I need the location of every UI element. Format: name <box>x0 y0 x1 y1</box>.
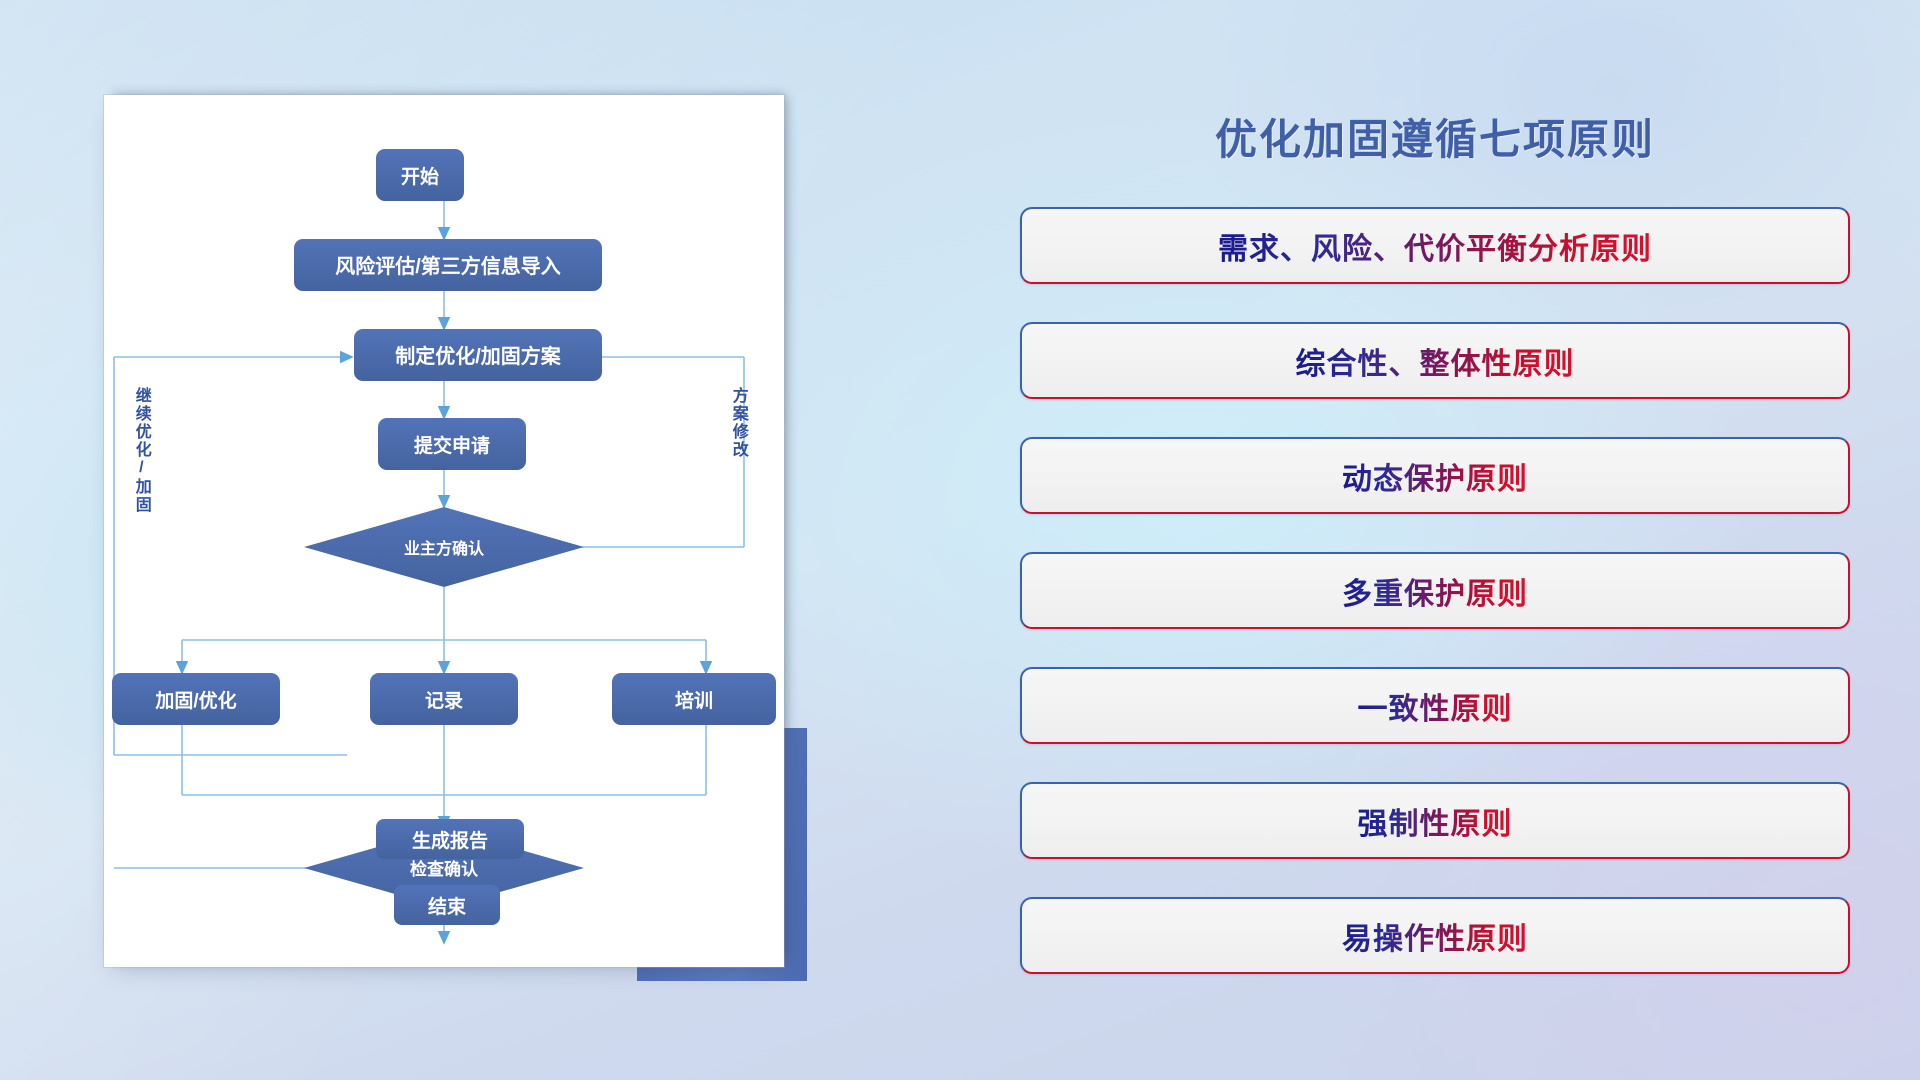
principle-label: 易操作性原则 <box>1342 914 1528 958</box>
node-label-training: 培训 <box>675 689 713 712</box>
node-label-submit: 提交申请 <box>414 434 490 457</box>
node-label-start: 开始 <box>401 165 439 188</box>
node-label-owner: 业主方确认 <box>404 539 485 558</box>
flowchart-card: 开始 风险评估/第三方信息导入 制定优化/加固方案 提交申请 业主方确认 加固/… <box>104 95 784 967</box>
node-label-record: 记录 <box>425 690 463 712</box>
node-label-report: 生成报告 <box>412 826 488 853</box>
principle-label: 多重保护原则 <box>1342 569 1528 613</box>
principle-item[interactable]: 需求、风险、代价平衡分析原则 <box>1020 207 1850 284</box>
principle-item[interactable]: 多重保护原则 <box>1020 552 1850 629</box>
principle-label: 一致性原则 <box>1358 684 1513 728</box>
principle-item[interactable]: 动态保护原则 <box>1020 437 1850 514</box>
edge-label-plan-revise: 方案修改 <box>729 387 746 459</box>
node-label-reinforce: 加固/优化 <box>154 689 236 712</box>
panel-title: 优化加固遵循七项原则 <box>1020 106 1850 167</box>
node-label-plan: 制定优化/加固方案 <box>395 344 562 368</box>
node-label-assess: 风险评估/第三方信息导入 <box>335 254 561 278</box>
principle-label: 动态保护原则 <box>1342 454 1528 498</box>
edge-label-continue-optimize: 继续优化/加固 <box>132 387 149 514</box>
node-end[interactable]: 结束 <box>394 885 500 925</box>
principle-item[interactable]: 强制性原则 <box>1020 782 1850 859</box>
principle-label: 强制性原则 <box>1358 799 1513 843</box>
principle-item[interactable]: 一致性原则 <box>1020 667 1850 744</box>
node-label-check: 检查确认 <box>410 859 479 879</box>
principle-item[interactable]: 易操作性原则 <box>1020 897 1850 974</box>
principle-label: 综合性、整体性原则 <box>1296 339 1575 383</box>
principle-item[interactable]: 综合性、整体性原则 <box>1020 322 1850 399</box>
principle-label: 需求、风险、代价平衡分析原则 <box>1218 224 1652 268</box>
node-report[interactable]: 生成报告 <box>376 819 524 859</box>
node-label-end: 结束 <box>428 892 466 919</box>
principles-panel: 优化加固遵循七项原则 需求、风险、代价平衡分析原则 综合性、整体性原则 动态保护… <box>1020 84 1850 1024</box>
